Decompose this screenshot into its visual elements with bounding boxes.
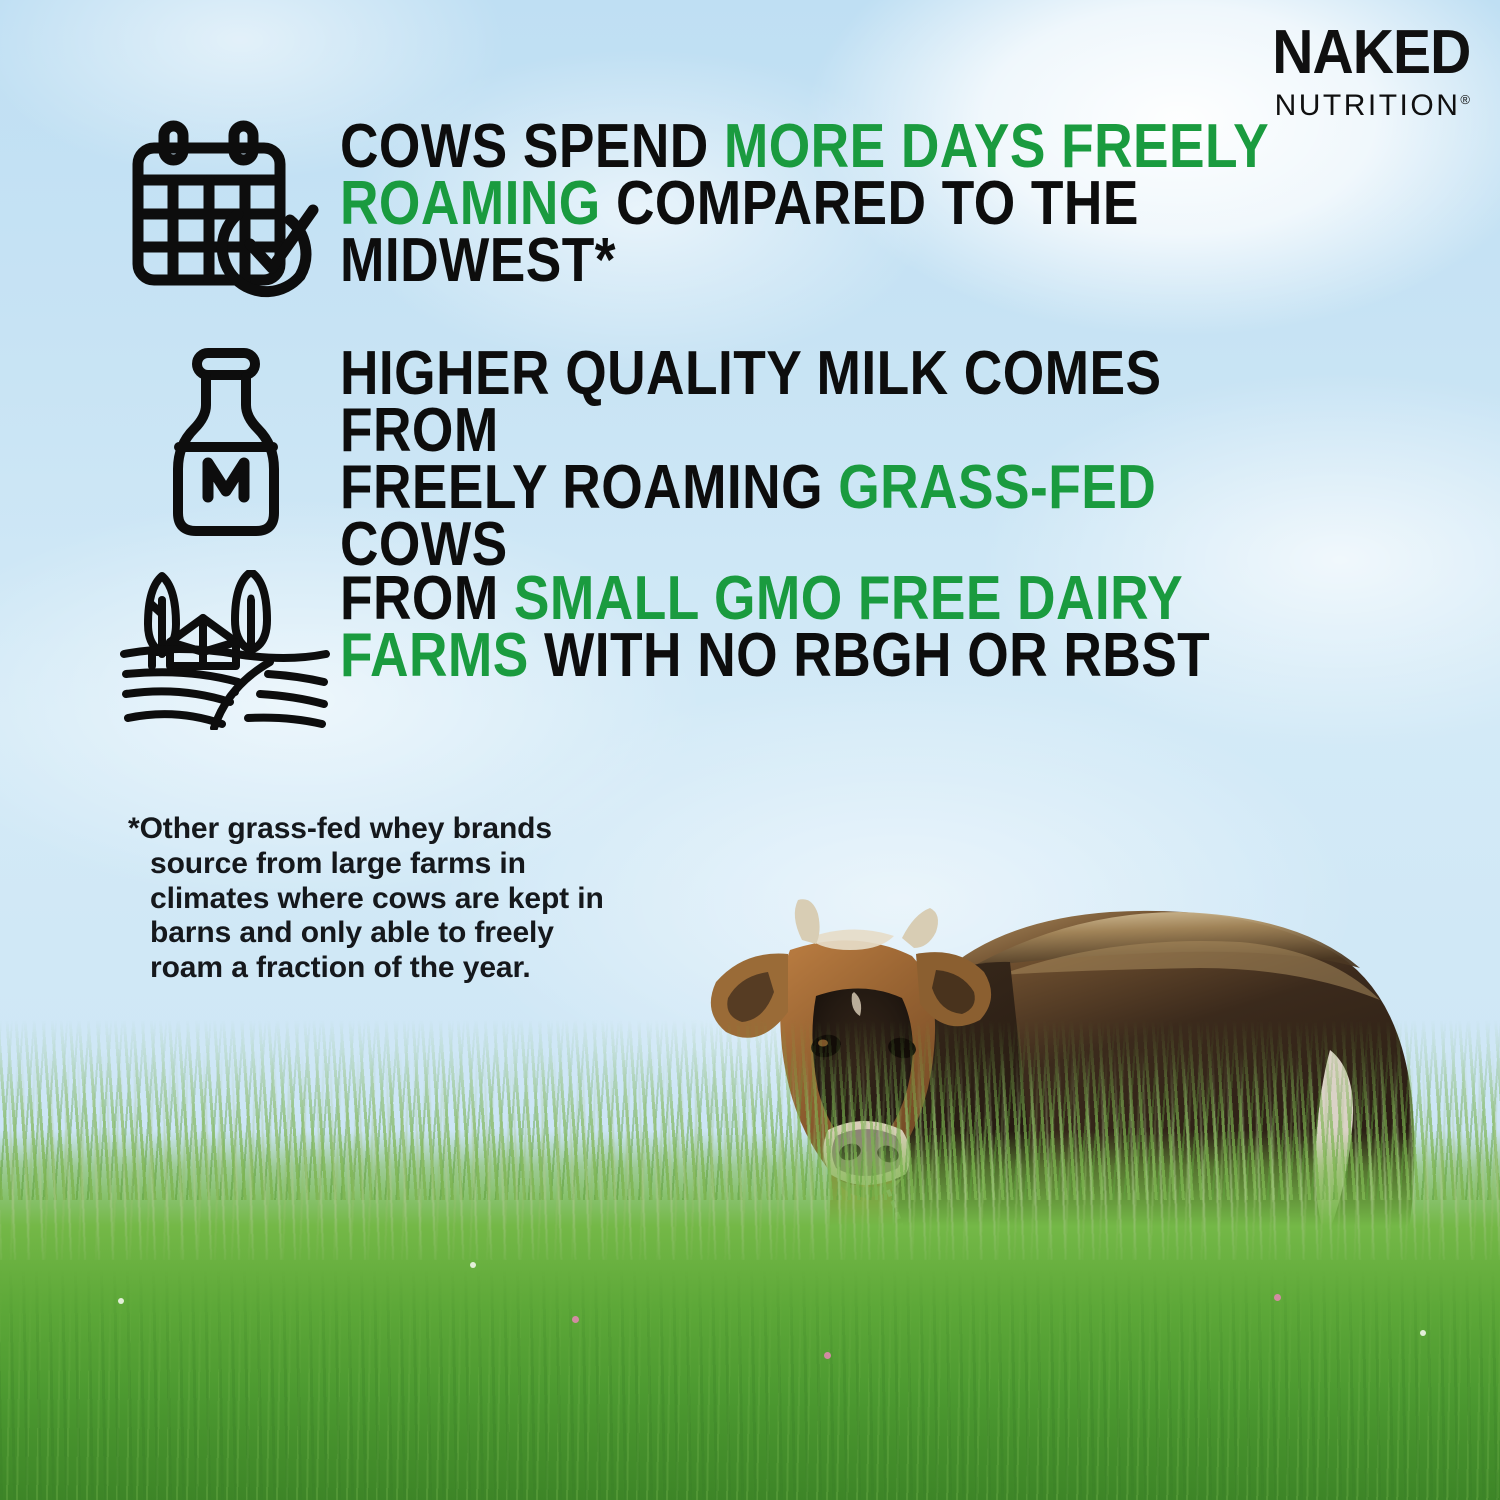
milk-bottle-icon [110,345,340,545]
benefit-text-2: HIGHER QUALITY MILK COMES FROM FREELY RO… [340,345,1440,573]
wildflower-white [1420,1330,1426,1336]
benefit-headline-1: COWS SPEND MORE DAYS FREELY ROAMING COMP… [340,118,1286,289]
benefit-text-3: FROM SMALL GMO FREE DAIRY FARMS WITH NO … [340,570,1440,684]
benefit-row-2: HIGHER QUALITY MILK COMES FROM FREELY RO… [110,345,1440,573]
brand-logo: NAKED NUTRITION® [1255,22,1470,121]
footnote-text: *Other grass-fed whey brands source from… [128,812,620,986]
brand-name-secondary: NUTRITION® [1255,91,1470,121]
wildflower [572,1316,579,1323]
benefit-headline-3: FROM SMALL GMO FREE DAIRY FARMS WITH NO … [340,570,1286,684]
brand-name-primary: NAKED [1272,22,1470,84]
grass-blades-mid [0,1050,1500,1260]
farm-field-icon [110,570,340,730]
benefit-row-3: FROM SMALL GMO FREE DAIRY FARMS WITH NO … [110,570,1440,730]
registered-trademark-icon: ® [1460,92,1470,107]
benefit-text-1: COWS SPEND MORE DAYS FREELY ROAMING COMP… [340,118,1440,289]
grass-blades-foreground [0,1270,1500,1500]
infographic-canvas: NAKED NUTRITION® COWS SPEND MORE D [0,0,1500,1500]
wildflower [824,1352,831,1359]
wildflower [1274,1294,1281,1301]
benefit-headline-2: HIGHER QUALITY MILK COMES FROM FREELY RO… [340,345,1286,573]
benefit-row-1: COWS SPEND MORE DAYS FREELY ROAMING COMP… [110,118,1440,298]
wildflower-white [470,1262,476,1268]
wildflower-white [118,1298,124,1304]
calendar-check-icon [110,118,340,298]
